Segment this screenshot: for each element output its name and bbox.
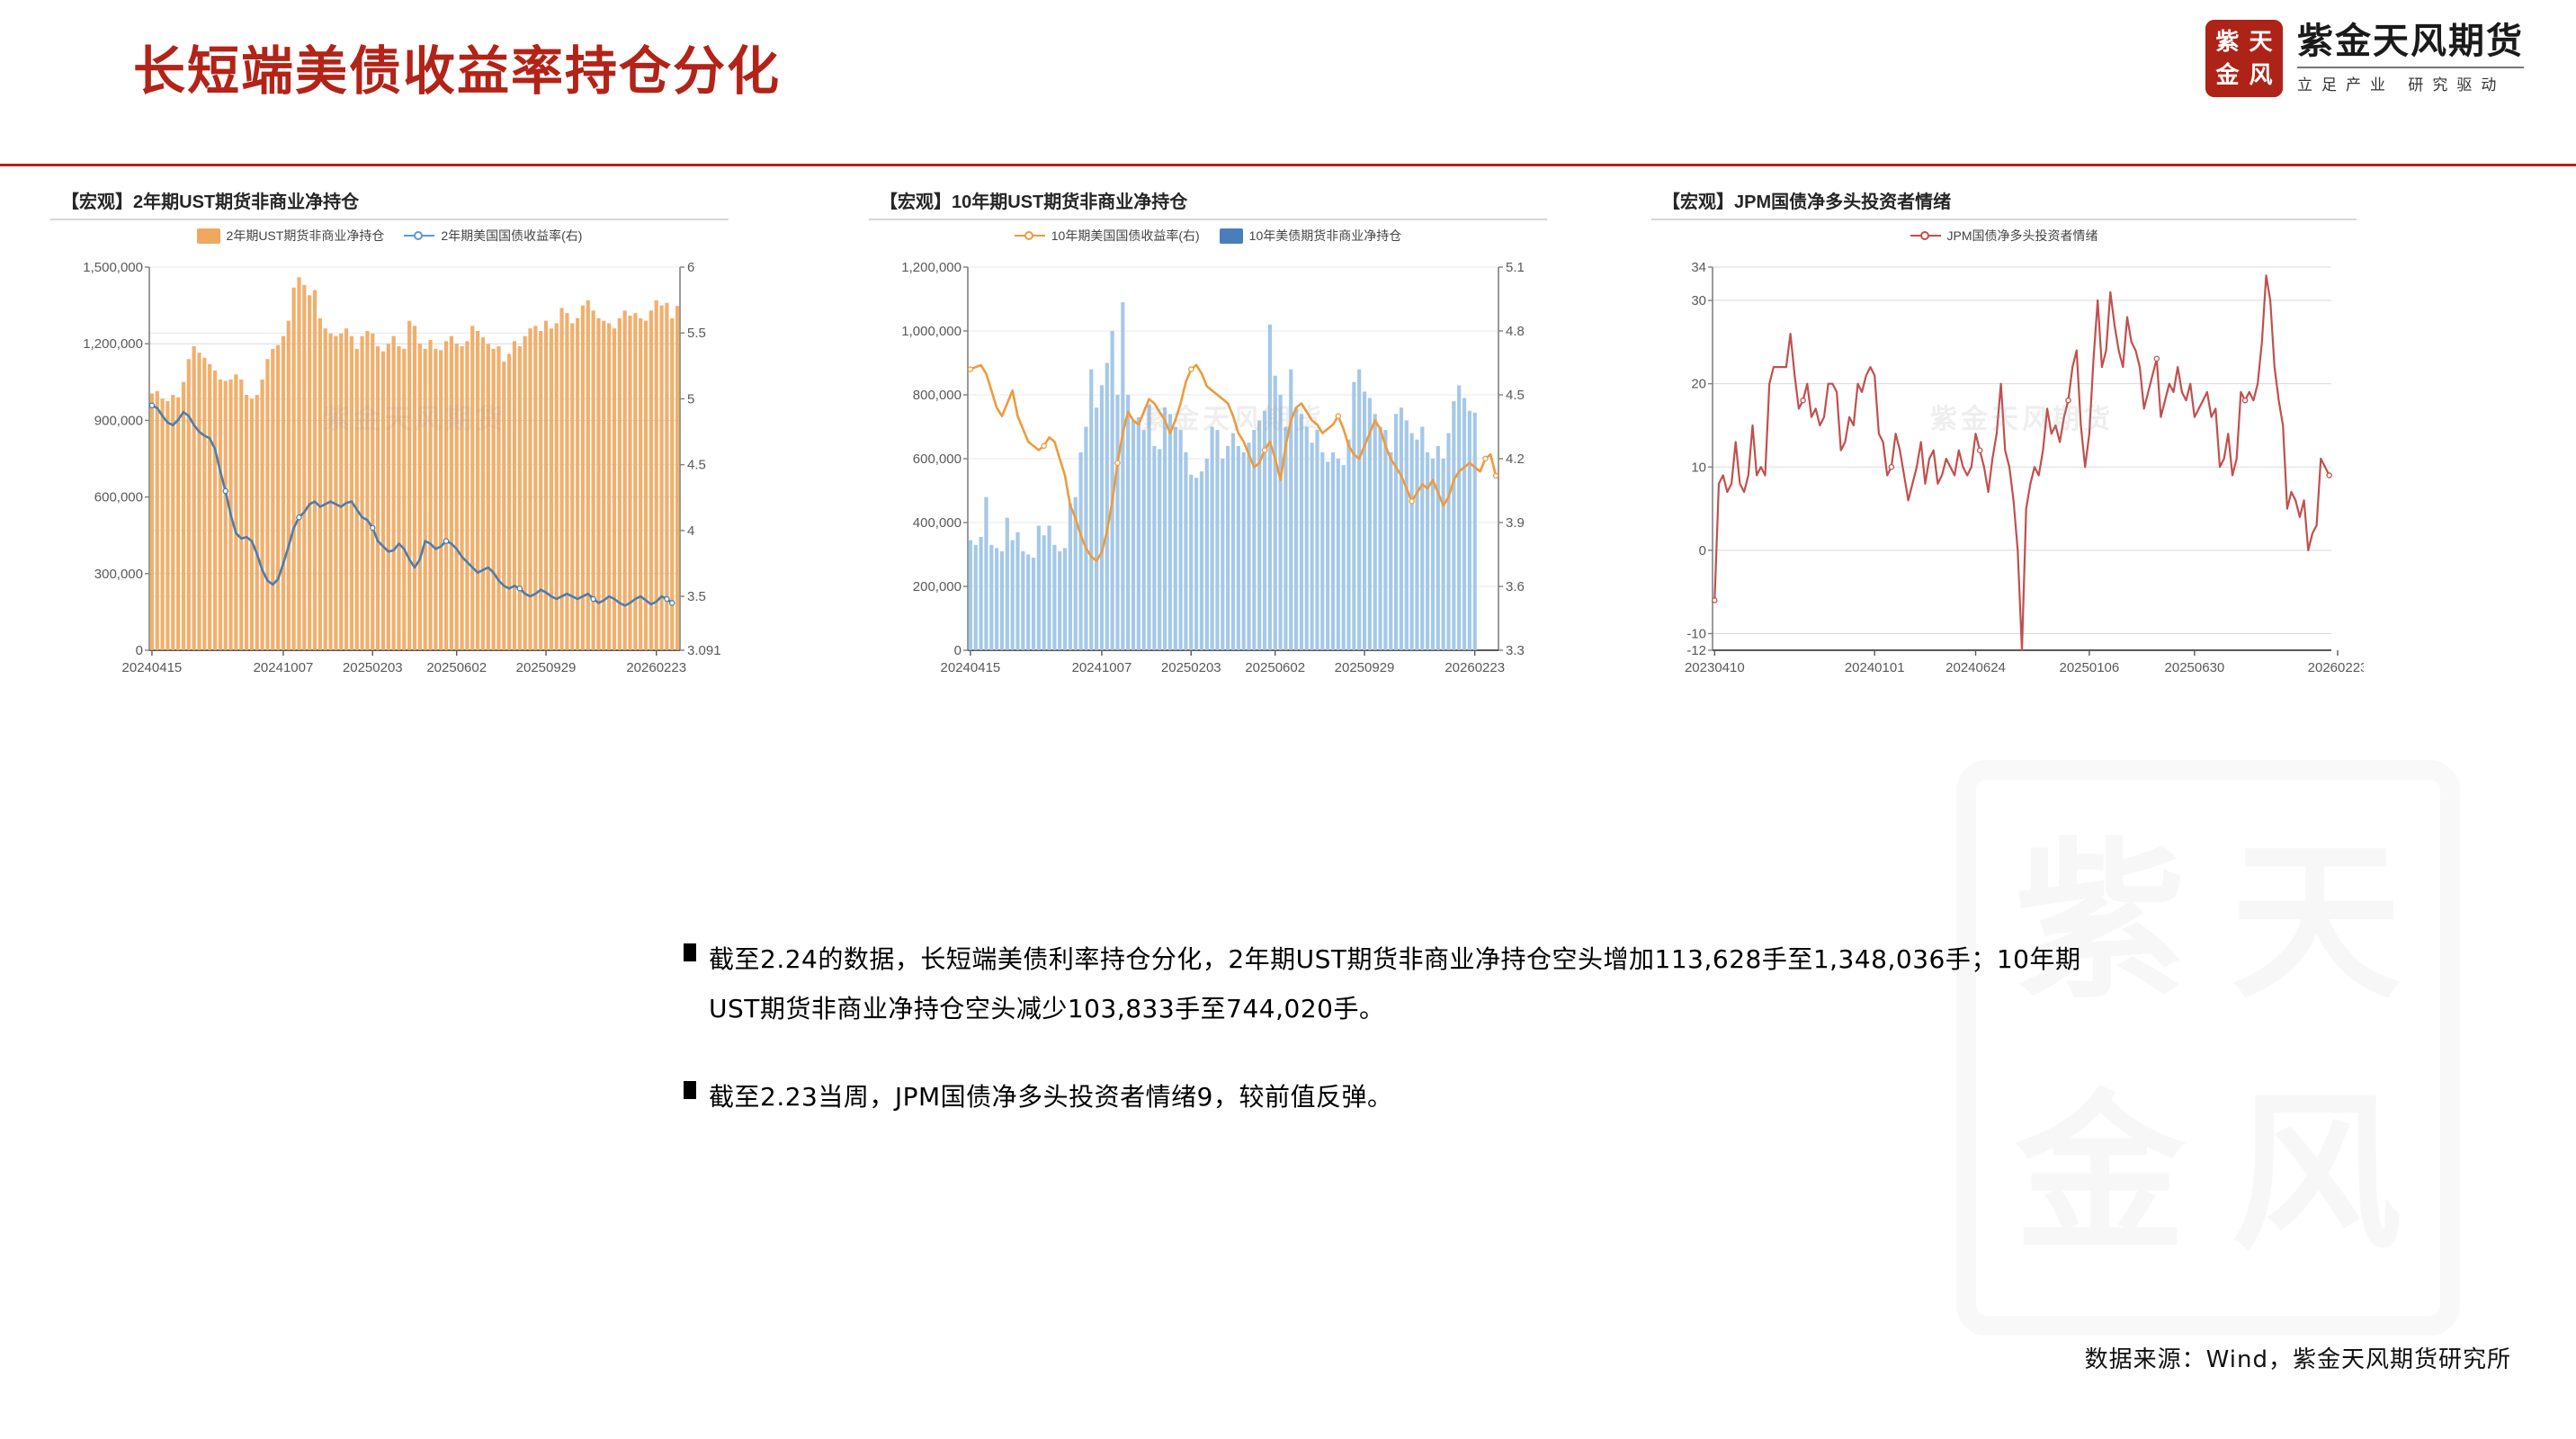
svg-text:600,000: 600,000 bbox=[94, 490, 143, 505]
svg-text:20250203: 20250203 bbox=[343, 660, 403, 675]
legend-item-bars: 2年期UST期货非商业净持仓 bbox=[197, 227, 385, 245]
svg-text:1,200,000: 1,200,000 bbox=[901, 260, 962, 275]
svg-text:0: 0 bbox=[954, 643, 962, 658]
company-logo: 紫 天 金 风 紫金天风期货 立足产业 研究驱动 bbox=[2205, 20, 2524, 97]
bullet-square-icon bbox=[684, 1081, 696, 1099]
bullet-text: 截至2.24的数据，长短端美债利率持仓分化，2年期UST期货非商业净持仓空头增加… bbox=[709, 935, 2123, 1033]
svg-text:20240624: 20240624 bbox=[1945, 660, 2006, 675]
svg-text:1,000,000: 1,000,000 bbox=[901, 324, 962, 339]
svg-text:34: 34 bbox=[1691, 260, 1706, 275]
svg-text:6: 6 bbox=[687, 260, 694, 275]
plot-area-jpm: 343020100-10-122023041020240101202406242… bbox=[1644, 255, 2364, 686]
svg-text:20250106: 20250106 bbox=[2060, 660, 2120, 675]
svg-text:3.091: 3.091 bbox=[687, 643, 721, 658]
plot-area-2y-ust: 1,500,0001,200,000900,000600,000300,0000… bbox=[43, 255, 736, 686]
svg-text:3.6: 3.6 bbox=[1506, 579, 1525, 594]
seal-icon: 紫 天 金 风 bbox=[2205, 20, 2283, 97]
legend-item-line: 2年期美国国债收益率(右) bbox=[404, 227, 582, 245]
svg-text:1,200,000: 1,200,000 bbox=[83, 336, 143, 352]
bullet-text: 截至2.23当周，JPM国债净多头投资者情绪9，较前值反弹。 bbox=[709, 1073, 1392, 1122]
svg-text:3.3: 3.3 bbox=[1506, 643, 1525, 658]
svg-text:紫金天风期货: 紫金天风期货 bbox=[1930, 404, 2114, 435]
svg-text:20260223: 20260223 bbox=[2308, 660, 2364, 675]
chart-legend-2y-ust: 2年期UST期货非商业净持仓 2年期美国国债收益率(右) bbox=[43, 220, 736, 251]
svg-text:5.1: 5.1 bbox=[1506, 260, 1525, 275]
svg-text:紫金天风期货: 紫金天风期货 bbox=[323, 404, 506, 435]
legend-swatch-icon bbox=[197, 228, 220, 244]
svg-text:20240415: 20240415 bbox=[941, 660, 1001, 675]
svg-text:20250203: 20250203 bbox=[1161, 660, 1221, 675]
svg-text:20250602: 20250602 bbox=[426, 660, 487, 675]
chart-legend-10y-ust: 10年期美国国债收益率(右) 10年美债期货非商业净持仓 bbox=[862, 220, 1554, 251]
svg-text:400,000: 400,000 bbox=[913, 515, 962, 531]
svg-text:-12: -12 bbox=[1686, 643, 1706, 658]
bullet-item: 截至2.23当周，JPM国债净多头投资者情绪9，较前值反弹。 bbox=[684, 1073, 2123, 1122]
svg-text:20250929: 20250929 bbox=[1335, 660, 1395, 675]
svg-text:20260223: 20260223 bbox=[1445, 660, 1505, 675]
svg-text:0: 0 bbox=[1699, 543, 1706, 559]
seal-char-1: 紫 bbox=[2215, 31, 2239, 54]
svg-text:300,000: 300,000 bbox=[94, 567, 143, 582]
seal-char-4: 风 bbox=[2249, 64, 2272, 87]
page-header: 长短端美债收益率持仓分化 紫 天 金 风 紫金天风期货 立足产业 研究驱动 bbox=[0, 0, 2576, 164]
svg-text:20240101: 20240101 bbox=[1845, 660, 1905, 675]
chart-card-10y-ust: 【宏观】10年期UST期货非商业净持仓 10年期美国国债收益率(右) 10年美债… bbox=[862, 176, 1554, 723]
svg-text:-10: -10 bbox=[1686, 626, 1706, 641]
svg-text:4.5: 4.5 bbox=[687, 458, 706, 473]
svg-text:0: 0 bbox=[136, 643, 143, 658]
svg-text:20250602: 20250602 bbox=[1245, 660, 1305, 675]
bullet-list: 截至2.24的数据，长短端美债利率持仓分化，2年期UST期货非商业净持仓空头增加… bbox=[684, 935, 2123, 1162]
bullet-square-icon bbox=[684, 943, 696, 961]
svg-text:20: 20 bbox=[1691, 377, 1706, 392]
legend-item-line: JPM国债净多头投资者情绪 bbox=[1910, 227, 2098, 245]
charts-row: 【宏观】2年期UST期货非商业净持仓 2年期UST期货非商业净持仓 2年期美国国… bbox=[0, 176, 2576, 752]
legend-item-bars: 10年美债期货非商业净持仓 bbox=[1220, 227, 1402, 245]
chart-title-jpm: 【宏观】JPM国债净多头投资者情绪 bbox=[1644, 176, 2364, 219]
plot-area-10y-ust: 1,200,0001,000,000800,000600,000400,0002… bbox=[862, 255, 1554, 686]
svg-text:900,000: 900,000 bbox=[94, 413, 143, 428]
legend-label: JPM国债净多头投资者情绪 bbox=[1947, 227, 2098, 245]
svg-text:20240415: 20240415 bbox=[122, 660, 183, 675]
seal-char-3: 金 bbox=[2215, 64, 2239, 87]
svg-text:20230410: 20230410 bbox=[1685, 660, 1745, 675]
svg-text:4.2: 4.2 bbox=[1506, 451, 1525, 467]
logo-divider bbox=[2297, 67, 2524, 68]
svg-text:20250929: 20250929 bbox=[516, 660, 577, 675]
legend-line-icon bbox=[1910, 230, 1941, 241]
svg-text:200,000: 200,000 bbox=[913, 579, 962, 594]
legend-label: 10年期美国国债收益率(右) bbox=[1051, 227, 1200, 245]
header-rule bbox=[0, 164, 2576, 166]
svg-text:5.5: 5.5 bbox=[687, 326, 706, 341]
legend-label: 2年期UST期货非商业净持仓 bbox=[227, 227, 385, 245]
chart-card-jpm-sentiment: 【宏观】JPM国债净多头投资者情绪 JPM国债净多头投资者情绪 34302010… bbox=[1644, 176, 2364, 723]
logo-company-name: 紫金天风期货 bbox=[2297, 22, 2524, 61]
svg-text:10: 10 bbox=[1691, 460, 1706, 475]
svg-text:1,500,000: 1,500,000 bbox=[83, 260, 143, 275]
watermark-char-4: 风 bbox=[2231, 1088, 2402, 1259]
data-source-footer: 数据来源：Wind，紫金天风期货研究所 bbox=[2085, 1341, 2511, 1374]
bullet-item: 截至2.24的数据，长短端美债利率持仓分化，2年期UST期货非商业净持仓空头增加… bbox=[684, 935, 2123, 1033]
chart-title-2y-ust: 【宏观】2年期UST期货非商业净持仓 bbox=[43, 176, 736, 219]
legend-item-line: 10年期美国国债收益率(右) bbox=[1015, 227, 1200, 245]
svg-text:4.8: 4.8 bbox=[1506, 324, 1525, 339]
chart-legend-jpm: JPM国债净多头投资者情绪 bbox=[1644, 220, 2364, 251]
seal-char-2: 天 bbox=[2249, 31, 2272, 54]
chart-card-2y-ust: 【宏观】2年期UST期货非商业净持仓 2年期UST期货非商业净持仓 2年期美国国… bbox=[43, 176, 736, 723]
svg-text:30: 30 bbox=[1691, 293, 1706, 308]
svg-text:3.9: 3.9 bbox=[1506, 515, 1525, 531]
watermark-char-2: 天 bbox=[2231, 836, 2402, 1007]
svg-text:3.5: 3.5 bbox=[687, 589, 706, 604]
svg-text:4: 4 bbox=[687, 523, 694, 539]
svg-text:20250630: 20250630 bbox=[2165, 660, 2225, 675]
svg-text:800,000: 800,000 bbox=[913, 388, 962, 403]
legend-label: 10年美债期货非商业净持仓 bbox=[1249, 227, 1402, 245]
logo-tagline: 立足产业 研究驱动 bbox=[2297, 72, 2524, 94]
legend-line-icon bbox=[404, 230, 434, 241]
page-title: 长短端美债收益率持仓分化 bbox=[133, 29, 781, 104]
svg-text:20241007: 20241007 bbox=[254, 660, 314, 675]
legend-swatch-icon bbox=[1220, 228, 1243, 244]
legend-label: 2年期美国国债收益率(右) bbox=[441, 227, 582, 245]
svg-text:600,000: 600,000 bbox=[913, 451, 962, 467]
chart-title-10y-ust: 【宏观】10年期UST期货非商业净持仓 bbox=[862, 176, 1554, 219]
svg-text:5: 5 bbox=[687, 391, 694, 407]
svg-text:20260223: 20260223 bbox=[626, 660, 686, 675]
svg-text:紫金天风期货: 紫金天风期货 bbox=[1141, 404, 1325, 435]
svg-text:20241007: 20241007 bbox=[1072, 660, 1132, 675]
svg-text:4.5: 4.5 bbox=[1506, 388, 1525, 403]
legend-line-icon bbox=[1015, 230, 1045, 241]
